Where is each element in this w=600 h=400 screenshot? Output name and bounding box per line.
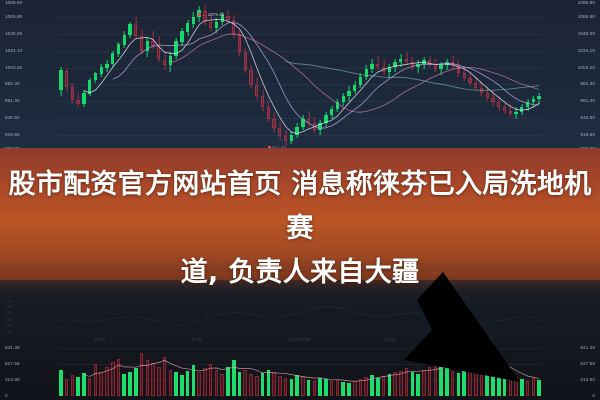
stock-chart-banner: 1086.801086.801065.901065.901045.001045.…: [0, 0, 600, 400]
page-title: 股市配资官方网站首页 消息称徕芬已入局洗地机赛 道, 负责人来自大疆: [0, 163, 600, 295]
headline-line-2: 道, 负责人来自大疆: [4, 251, 596, 295]
headline-line-1: 股市配资官方网站首页 消息称徕芬已入局洗地机赛: [9, 169, 592, 244]
